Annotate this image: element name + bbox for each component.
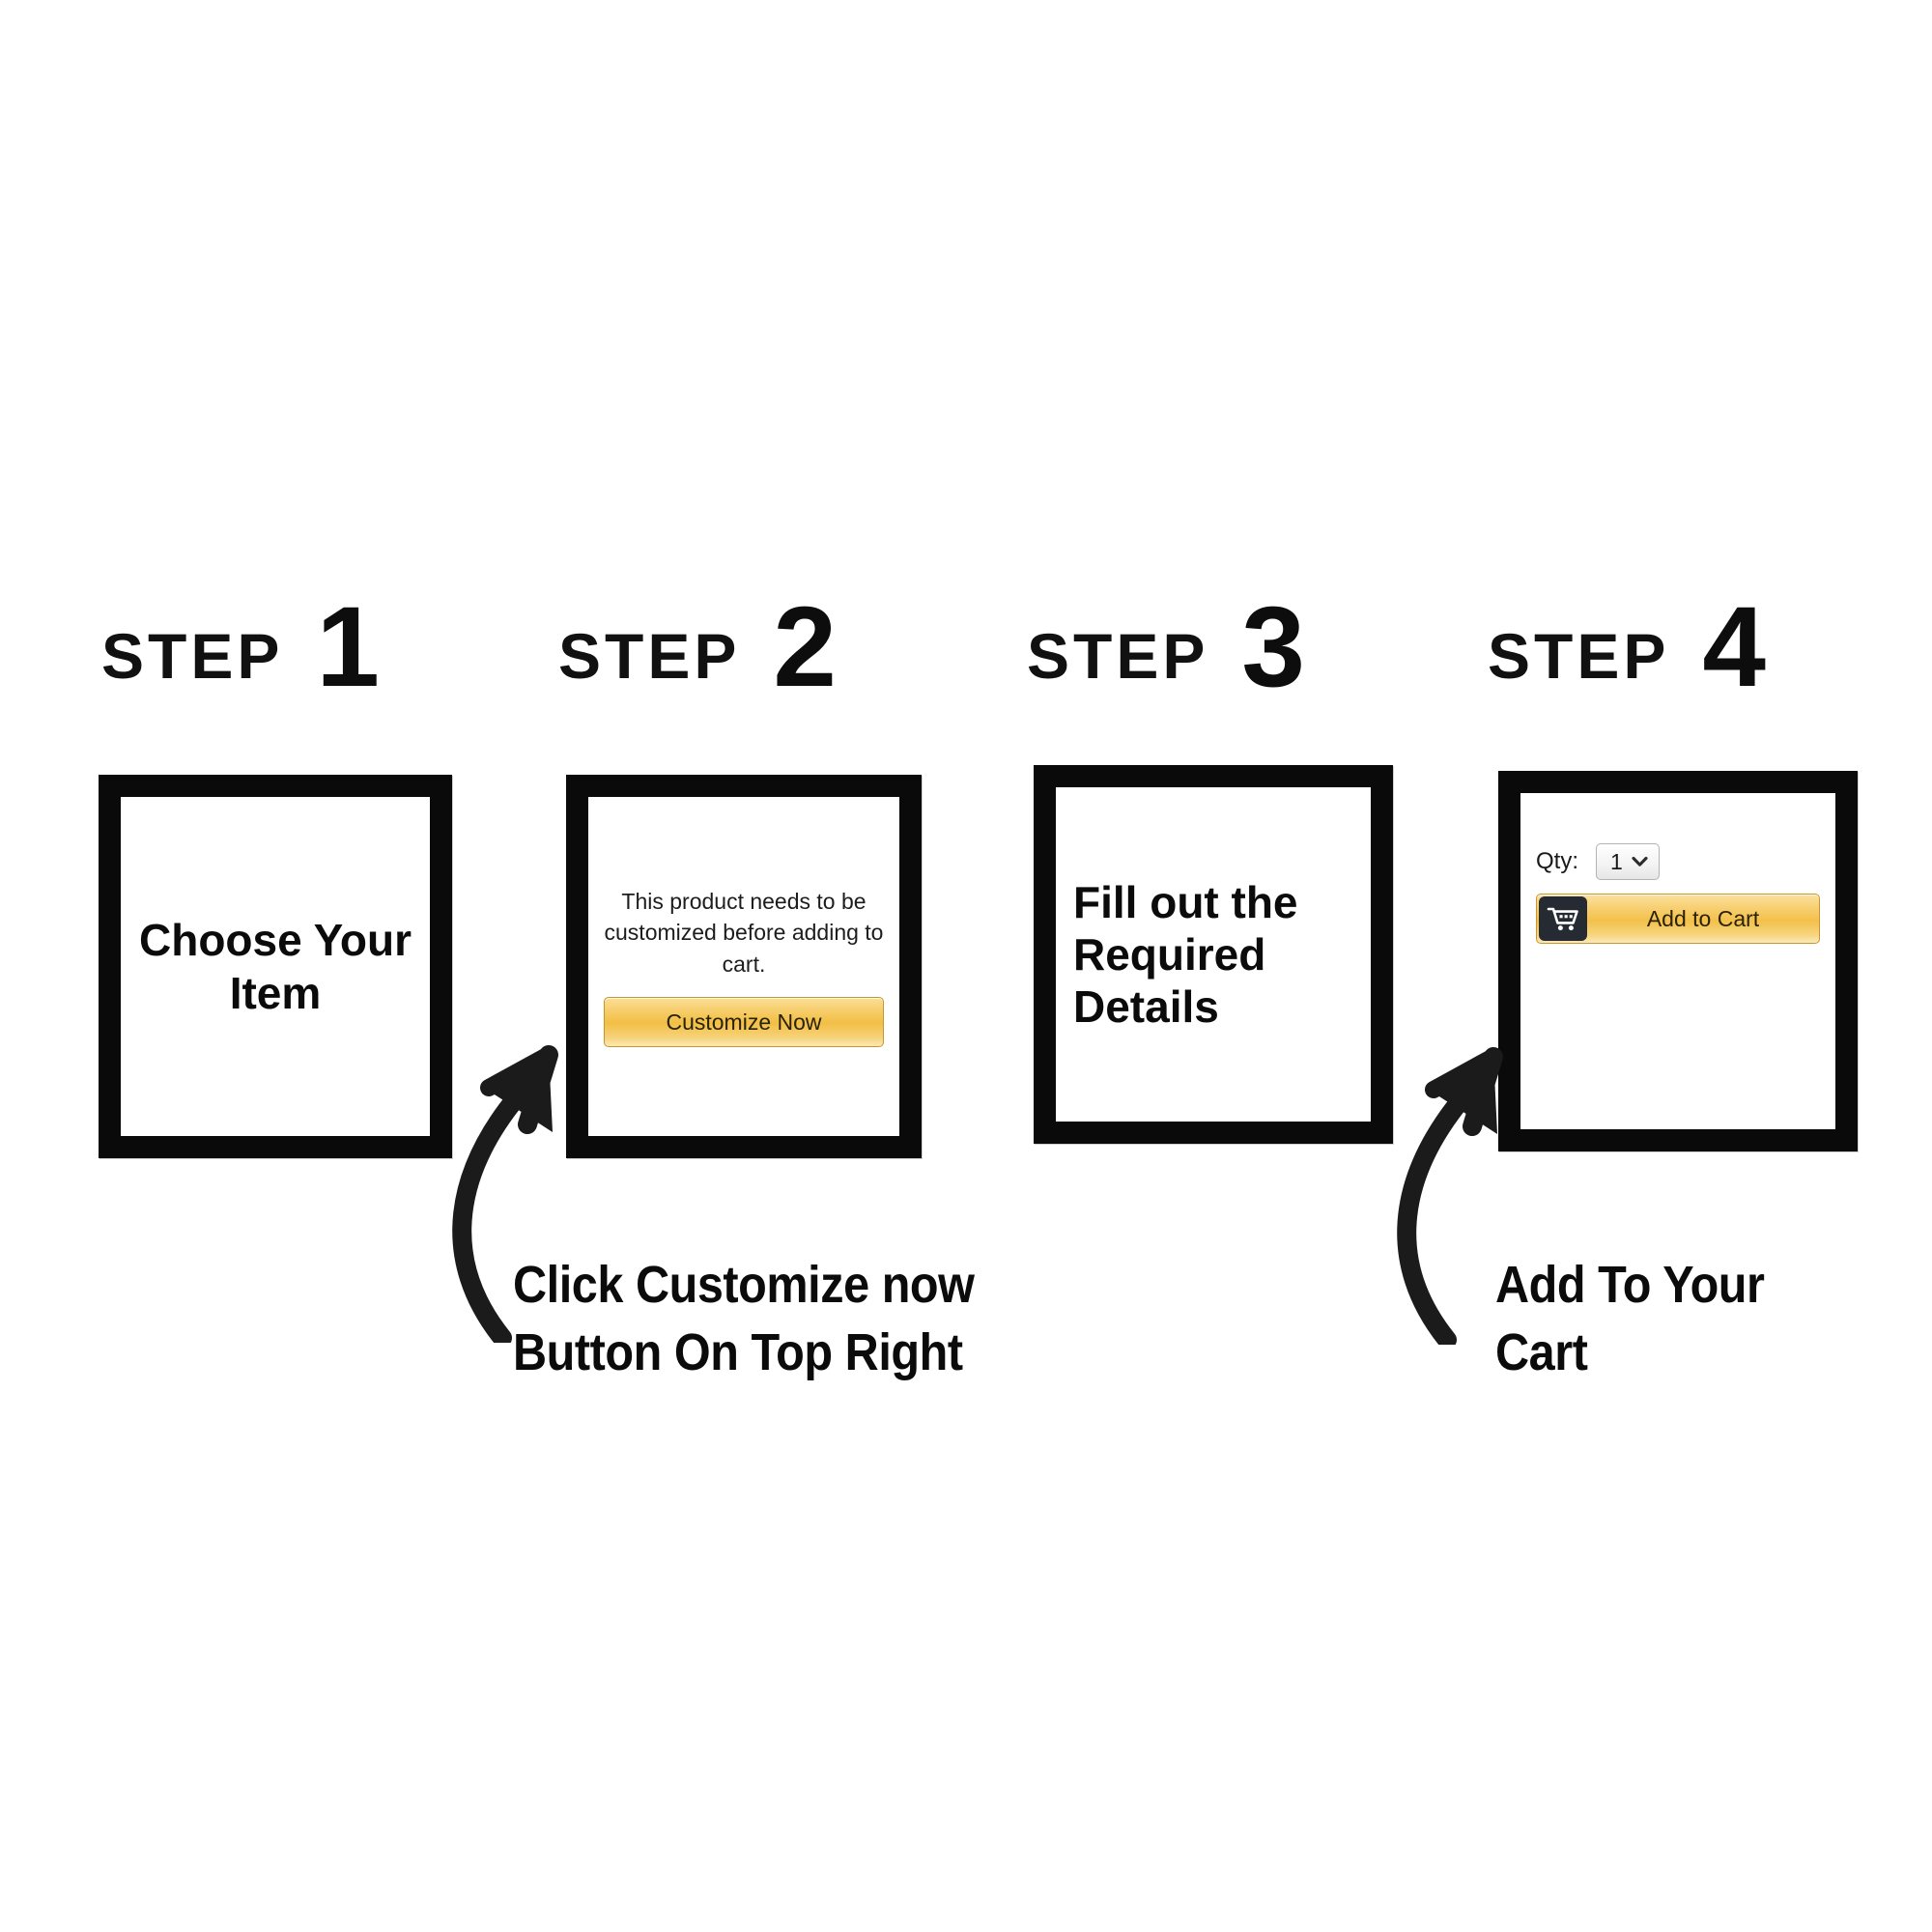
- cart-widget: Qty: 1: [1536, 843, 1820, 944]
- step-4-box: Qty: 1: [1498, 771, 1858, 1151]
- step-4-word: STEP: [1488, 624, 1669, 688]
- step-2-word: STEP: [558, 624, 740, 688]
- customization-notice: This product needs to be customized befo…: [604, 886, 884, 980]
- step-3-word: STEP: [1027, 624, 1208, 688]
- step-1-box-text: Choose Your Item: [121, 914, 430, 1019]
- quantity-value: 1: [1610, 849, 1623, 875]
- step-2-number: 2: [773, 599, 837, 696]
- instruction-graphic: STEP 1 Choose Your Item STEP 2 This prod…: [0, 0, 1932, 1932]
- step-3-header: STEP 3: [1027, 591, 1305, 689]
- shopping-cart-icon: [1539, 896, 1587, 941]
- step-4-box-inner: Qty: 1: [1520, 793, 1835, 1129]
- quantity-row: Qty: 1: [1536, 843, 1820, 880]
- add-to-cart-button[interactable]: Add to Cart: [1536, 894, 1820, 944]
- step-3-box-inner: Fill out the Required Details: [1056, 787, 1371, 1122]
- caption-step-4: Add To Your Cart: [1495, 1251, 1861, 1386]
- step-2-box-inner: This product needs to be customized befo…: [588, 797, 899, 1136]
- quantity-label: Qty:: [1536, 848, 1578, 875]
- step-1-box-inner: Choose Your Item: [121, 797, 430, 1136]
- add-to-cart-label: Add to Cart: [1587, 895, 1819, 943]
- step-3-box: Fill out the Required Details: [1034, 765, 1393, 1144]
- customize-now-button[interactable]: Customize Now: [604, 997, 884, 1047]
- step-3-number: 3: [1241, 599, 1305, 696]
- step-2-box: This product needs to be customized befo…: [566, 775, 922, 1158]
- quantity-select[interactable]: 1: [1596, 843, 1660, 880]
- step-2-header: STEP 2: [558, 591, 837, 689]
- step-1-word: STEP: [101, 624, 283, 688]
- step-3-box-text: Fill out the Required Details: [1056, 876, 1371, 1034]
- step-1-header: STEP 1: [101, 591, 380, 689]
- customize-widget: This product needs to be customized befo…: [588, 886, 899, 1048]
- step-4-number: 4: [1702, 599, 1766, 696]
- step-1-box: Choose Your Item: [99, 775, 452, 1158]
- chevron-down-icon: [1632, 856, 1648, 867]
- step-4-header: STEP 4: [1488, 591, 1766, 689]
- caption-step-2: Click Customize now Button On Top Right: [513, 1251, 1000, 1386]
- step-1-number: 1: [316, 599, 380, 696]
